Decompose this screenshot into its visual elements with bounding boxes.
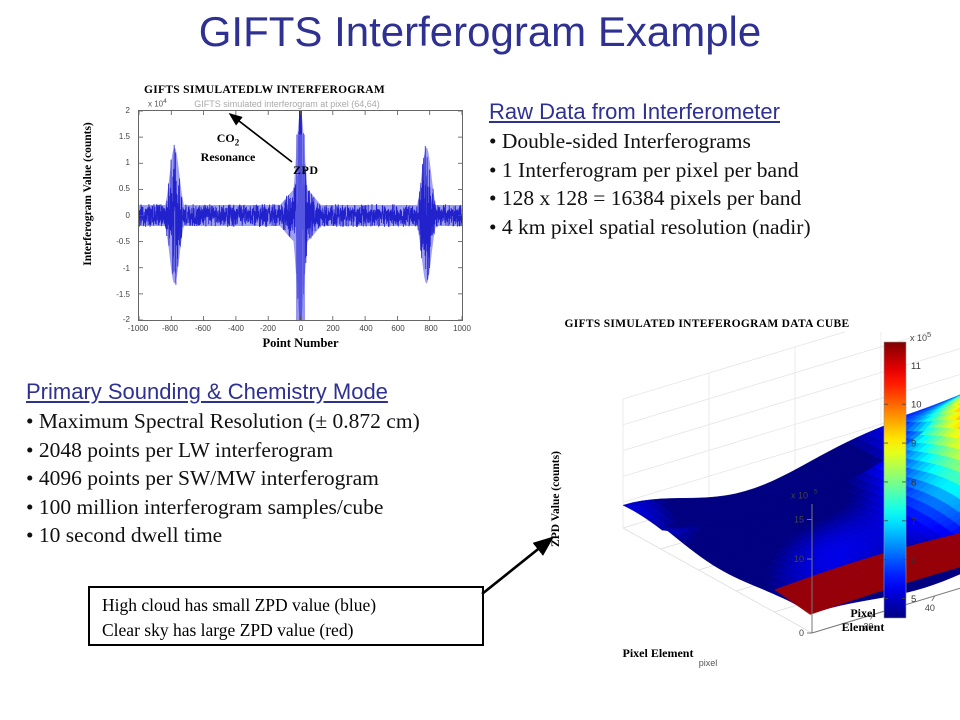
x-tick: -1000 bbox=[128, 324, 148, 333]
svg-text:6: 6 bbox=[911, 555, 916, 566]
interferogram-y-exponent: x 104 bbox=[148, 98, 167, 109]
svg-text:7: 7 bbox=[911, 516, 916, 527]
zpd-caption-box: High cloud has small ZPD value (blue) Cl… bbox=[88, 586, 484, 646]
data-cube-heading: GIFTS SIMULATED INTEFEROGRAM DATA CUBE bbox=[542, 318, 872, 330]
interferogram-y-axis-label: Interferogram Value (counts) bbox=[82, 94, 94, 294]
colorbar-exponent-power: 5 bbox=[927, 330, 931, 339]
list-item: 10 second dwell time bbox=[26, 521, 526, 550]
list-item: Maximum Spectral Resolution (± 0.872 cm) bbox=[26, 407, 526, 436]
svg-text:9: 9 bbox=[911, 439, 916, 450]
svg-text:5: 5 bbox=[814, 488, 818, 495]
y-tick: 1.5 bbox=[96, 132, 130, 141]
x-tick: 800 bbox=[424, 324, 437, 333]
list-item: 1 Interferogram per pixel per band bbox=[489, 156, 959, 185]
raw-data-bullet-list: Double-sided Interferograms 1 Interferog… bbox=[489, 127, 959, 241]
list-item: Double-sided Interferograms bbox=[489, 127, 959, 156]
x-tick: -800 bbox=[162, 324, 178, 333]
list-item: 2048 points per LW interferogram bbox=[26, 436, 526, 465]
caption-line-1: High cloud has small ZPD value (blue) bbox=[90, 588, 482, 618]
y-tick: -1.5 bbox=[96, 290, 130, 299]
y-tick: 2 bbox=[96, 106, 130, 115]
svg-text:10: 10 bbox=[794, 554, 804, 564]
raw-data-heading: Raw Data from Interferometer bbox=[489, 99, 959, 125]
page-title: GIFTS Interferogram Example bbox=[0, 8, 960, 56]
zpd-annotation: ZPD bbox=[293, 163, 319, 178]
y-tick: -0.5 bbox=[96, 237, 130, 246]
interferogram-chart: GIFTS SIMULATEDLW INTERFEROGRAM GIFTS si… bbox=[52, 84, 477, 359]
x-tick: -400 bbox=[228, 324, 244, 333]
primary-mode-bullet-list: Maximum Spectral Resolution (± 0.872 cm)… bbox=[26, 407, 526, 550]
svg-text:10: 10 bbox=[911, 400, 922, 411]
colorbar-exponent: x 105 bbox=[910, 330, 931, 343]
x-tick: 200 bbox=[326, 324, 339, 333]
slide-canvas: GIFTS Interferogram Example GIFTS SIMULA… bbox=[0, 0, 960, 720]
y-tick: -1 bbox=[96, 264, 130, 273]
primary-mode-text-block: Primary Sounding & Chemistry Mode Maximu… bbox=[26, 379, 526, 550]
svg-text:x 10: x 10 bbox=[791, 490, 808, 500]
y-tick: -2 bbox=[96, 315, 130, 324]
svg-text:8: 8 bbox=[911, 477, 916, 488]
x-tick: 0 bbox=[299, 324, 303, 333]
interferogram-y-axis: 2 1.5 1 0.5 0 -0.5 -1 -1.5 -2 bbox=[52, 84, 138, 324]
y-tick: 1 bbox=[96, 158, 130, 167]
list-item: 4096 points per SW/MW interferogram bbox=[26, 464, 526, 493]
data-cube-y-axis-label: PixelElement bbox=[818, 606, 908, 634]
primary-mode-heading: Primary Sounding & Chemistry Mode bbox=[26, 379, 526, 405]
interferogram-x-axis-label: Point Number bbox=[138, 336, 463, 351]
data-cube-x-axis-sublabel: pixel bbox=[678, 658, 738, 668]
x-tick: -200 bbox=[260, 324, 276, 333]
y-exponent-base: x 10 bbox=[148, 100, 163, 109]
list-item: 4 km pixel spatial resolution (nadir) bbox=[489, 213, 959, 242]
data-cube-chart: GIFTS SIMULATED INTEFEROGRAM DATA CUBE 0… bbox=[528, 318, 960, 678]
list-item: 128 x 128 = 16384 pixels per band bbox=[489, 184, 959, 213]
list-item: 100 million interferogram samples/cube bbox=[26, 493, 526, 522]
svg-text:15: 15 bbox=[794, 514, 804, 524]
zpd-arrow-icon bbox=[220, 106, 300, 168]
caption-line-2: Clear sky has large ZPD value (red) bbox=[90, 618, 482, 643]
svg-text:0: 0 bbox=[799, 628, 804, 638]
svg-text:5: 5 bbox=[911, 594, 916, 605]
x-tick: 1000 bbox=[453, 324, 471, 333]
x-tick: 600 bbox=[391, 324, 404, 333]
colorbar-exponent-base: x 10 bbox=[910, 333, 927, 343]
x-tick: 400 bbox=[359, 324, 372, 333]
y-tick: 0.5 bbox=[96, 184, 130, 193]
raw-data-text-block: Raw Data from Interferometer Double-side… bbox=[489, 99, 959, 241]
x-tick: -600 bbox=[195, 324, 211, 333]
svg-text:40: 40 bbox=[925, 603, 935, 613]
data-cube-z-axis-label: ZPD Value (counts) bbox=[550, 419, 562, 579]
y-exponent-power: 4 bbox=[163, 98, 167, 105]
svg-text:11: 11 bbox=[911, 361, 921, 372]
y-tick: 0 bbox=[96, 211, 130, 220]
